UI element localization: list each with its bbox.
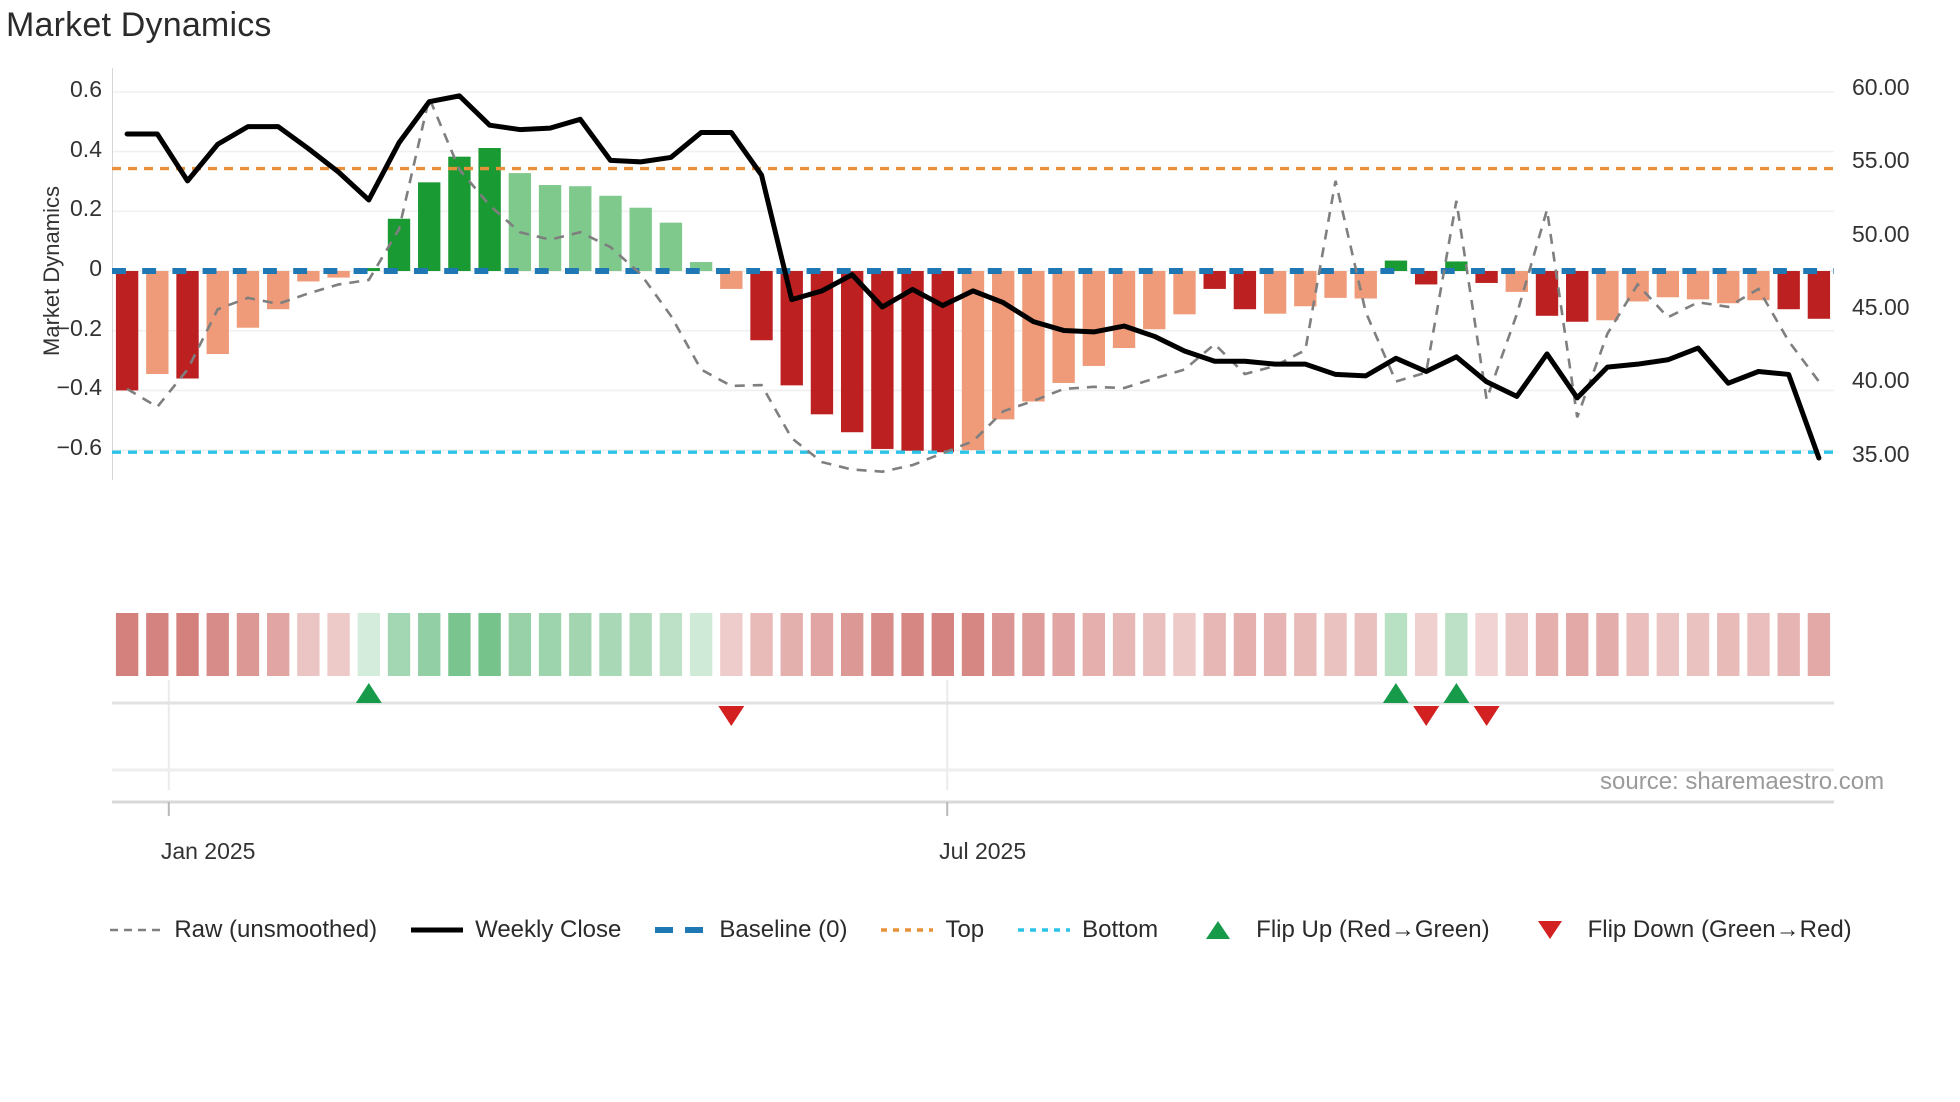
- bar: [599, 196, 621, 271]
- y-tick-left: −0.6: [10, 434, 102, 461]
- bar: [1717, 271, 1739, 303]
- heatmap-cell: [750, 613, 772, 676]
- legend-item-weekly-close[interactable]: Weekly Close: [409, 918, 621, 942]
- heatmap-cell: [1385, 613, 1407, 676]
- heatmap-cell: [932, 613, 954, 676]
- heatmap-cell: [1355, 613, 1377, 676]
- legend-item-baseline-0[interactable]: Baseline (0): [653, 918, 847, 942]
- y-tick-right: 40.00: [1852, 367, 1910, 394]
- heatmap-cell: [1808, 613, 1830, 676]
- flip-down-marker: [1474, 706, 1500, 726]
- legend-item-flip-down-green-red[interactable]: Flip Down (Green→Red): [1522, 918, 1852, 942]
- heatmap-cell: [388, 613, 410, 676]
- bar: [539, 185, 561, 271]
- bar: [1264, 271, 1286, 314]
- legend-item-label: Flip Down (Green→Red): [1588, 918, 1852, 942]
- heatmap-cell: [478, 613, 500, 676]
- bar: [418, 182, 440, 271]
- bar: [1173, 271, 1195, 314]
- flip-marker-row: [112, 680, 1834, 790]
- heatmap-cell: [599, 613, 621, 676]
- y-tick-left: 0.2: [10, 195, 102, 222]
- heatmap-cell: [1778, 613, 1800, 676]
- flip-down-marker: [718, 706, 744, 726]
- bar: [1143, 271, 1165, 329]
- bar: [630, 208, 652, 271]
- heatmap-cell: [297, 613, 319, 676]
- bar: [207, 271, 229, 354]
- legend-item-bottom[interactable]: Bottom: [1016, 918, 1158, 942]
- y-tick-right: 55.00: [1852, 147, 1910, 174]
- y-tick-right: 45.00: [1852, 294, 1910, 321]
- heatmap-cell: [1566, 613, 1588, 676]
- bar: [569, 186, 591, 271]
- heatmap-cell: [660, 613, 682, 676]
- dotted-line-icon: [879, 919, 935, 941]
- heatmap-cell: [901, 613, 923, 676]
- heatmap-cell: [1657, 613, 1679, 676]
- heatmap-cell: [1143, 613, 1165, 676]
- bar: [1566, 271, 1588, 322]
- heatmap-cell: [1173, 613, 1195, 676]
- heatmap-cell: [1445, 613, 1467, 676]
- heatmap-cell: [358, 613, 380, 676]
- bar: [1778, 271, 1800, 309]
- heatmap-cell: [237, 613, 259, 676]
- y-tick-right: 60.00: [1852, 74, 1910, 101]
- bar: [1113, 271, 1135, 348]
- regime-heatmap-strip: [112, 613, 1834, 676]
- heatmap-cell: [962, 613, 984, 676]
- heatmap-cell: [841, 613, 863, 676]
- bar: [448, 157, 470, 271]
- flip-down-marker: [1413, 706, 1439, 726]
- heatmap-cell: [509, 613, 531, 676]
- legend-item-label: Top: [945, 918, 984, 942]
- bar: [962, 271, 984, 450]
- bar: [1596, 271, 1618, 320]
- heatmap-cell: [327, 613, 349, 676]
- bar: [116, 271, 138, 390]
- heatmap-cell: [116, 613, 138, 676]
- heatmap-cell: [1596, 613, 1618, 676]
- bar: [1083, 271, 1105, 366]
- y-tick-left: 0: [10, 255, 102, 282]
- bar: [1536, 271, 1558, 316]
- heatmap-cell: [448, 613, 470, 676]
- bar: [901, 271, 923, 451]
- heatmap-cell: [781, 613, 803, 676]
- heatmap-cell: [1415, 613, 1437, 676]
- heatmap-cell: [569, 613, 591, 676]
- plot-svg: [112, 68, 1834, 480]
- heatmap-cell: [1687, 613, 1709, 676]
- heatmap-cell: [207, 613, 229, 676]
- legend-item-label: Raw (unsmoothed): [174, 918, 377, 942]
- heatmap-cell: [1717, 613, 1739, 676]
- heatmap-cell: [1536, 613, 1558, 676]
- legend-item-raw-unsmoothed[interactable]: Raw (unsmoothed): [108, 918, 377, 942]
- bar: [660, 223, 682, 271]
- legend-item-top[interactable]: Top: [879, 918, 984, 942]
- heatmap-cell: [1506, 613, 1528, 676]
- legend-item-flip-up-red-green[interactable]: Flip Up (Red→Green): [1190, 918, 1489, 942]
- flip-up-marker: [1443, 683, 1469, 703]
- bar: [237, 271, 259, 328]
- heatmap-cell: [1022, 613, 1044, 676]
- bar: [750, 271, 772, 340]
- solid-line-icon: [409, 919, 465, 941]
- heatmap-cell: [1475, 613, 1497, 676]
- triangle-up-icon: [1190, 919, 1246, 941]
- heatmap-svg: [112, 613, 1834, 676]
- triangle-down-icon: [1522, 919, 1578, 941]
- legend-item-label: Flip Up (Red→Green): [1256, 918, 1489, 942]
- bar: [781, 271, 803, 385]
- legend-item-label: Baseline (0): [719, 918, 847, 942]
- heatmap-cell: [1626, 613, 1648, 676]
- x-tick-label: Jan 2025: [161, 838, 256, 865]
- bar: [1355, 271, 1377, 298]
- heatmap-cell: [418, 613, 440, 676]
- heatmap-cell: [811, 613, 833, 676]
- heatmap-cell: [1264, 613, 1286, 676]
- plot-area: [112, 68, 1834, 480]
- bar: [1657, 271, 1679, 297]
- heatmap-cell: [1324, 613, 1346, 676]
- flip-up-marker: [1383, 683, 1409, 703]
- heatmap-cell: [630, 613, 652, 676]
- heatmap-cell: [992, 613, 1014, 676]
- heatmap-cell: [539, 613, 561, 676]
- legend-item-label: Bottom: [1082, 918, 1158, 942]
- chart-legend: Raw (unsmoothed)Weekly CloseBaseline (0)…: [0, 918, 1960, 942]
- x-axis-svg: [112, 800, 1834, 820]
- y-tick-left: −0.4: [10, 374, 102, 401]
- dashed-line-icon: [108, 919, 164, 941]
- bar: [932, 271, 954, 452]
- bar: [509, 173, 531, 271]
- heatmap-cell: [871, 613, 893, 676]
- y-tick-left: 0.4: [10, 136, 102, 163]
- bar: [1687, 271, 1709, 299]
- source-note: source: sharemaestro.com: [1600, 768, 1884, 796]
- heatmap-cell: [1294, 613, 1316, 676]
- bar: [1324, 271, 1346, 298]
- heatmap-cell: [267, 613, 289, 676]
- y-tick-right: 35.00: [1852, 441, 1910, 468]
- legend-item-label: Weekly Close: [475, 918, 621, 942]
- dotted-line-icon: [1016, 919, 1072, 941]
- bar: [1808, 271, 1830, 319]
- bar: [146, 271, 168, 374]
- heatmap-cell: [690, 613, 712, 676]
- heatmap-cell: [146, 613, 168, 676]
- y-tick-left: 0.6: [10, 76, 102, 103]
- y-tick-right: 50.00: [1852, 221, 1910, 248]
- heatmap-cell: [1052, 613, 1074, 676]
- bar: [478, 148, 500, 271]
- bar: [1747, 271, 1769, 300]
- heatmap-cell: [1234, 613, 1256, 676]
- heatmap-cell: [720, 613, 742, 676]
- y-tick-left: −0.2: [10, 315, 102, 342]
- flip-marker-svg: [112, 680, 1834, 790]
- bar: [841, 271, 863, 432]
- x-tick-label: Jul 2025: [939, 838, 1026, 865]
- chart-root: Market Dynamics Market Dynamics Weekly C…: [0, 0, 1960, 1102]
- dashed-thick-line-icon: [653, 919, 709, 941]
- heatmap-cell: [1083, 613, 1105, 676]
- page-title: Market Dynamics: [6, 6, 272, 45]
- heatmap-cell: [176, 613, 198, 676]
- bar: [992, 271, 1014, 419]
- bar: [176, 271, 198, 378]
- heatmap-cell: [1747, 613, 1769, 676]
- bar: [1234, 271, 1256, 309]
- heatmap-cell: [1204, 613, 1226, 676]
- heatmap-cell: [1113, 613, 1135, 676]
- flip-up-marker: [356, 683, 382, 703]
- bar: [1022, 271, 1044, 401]
